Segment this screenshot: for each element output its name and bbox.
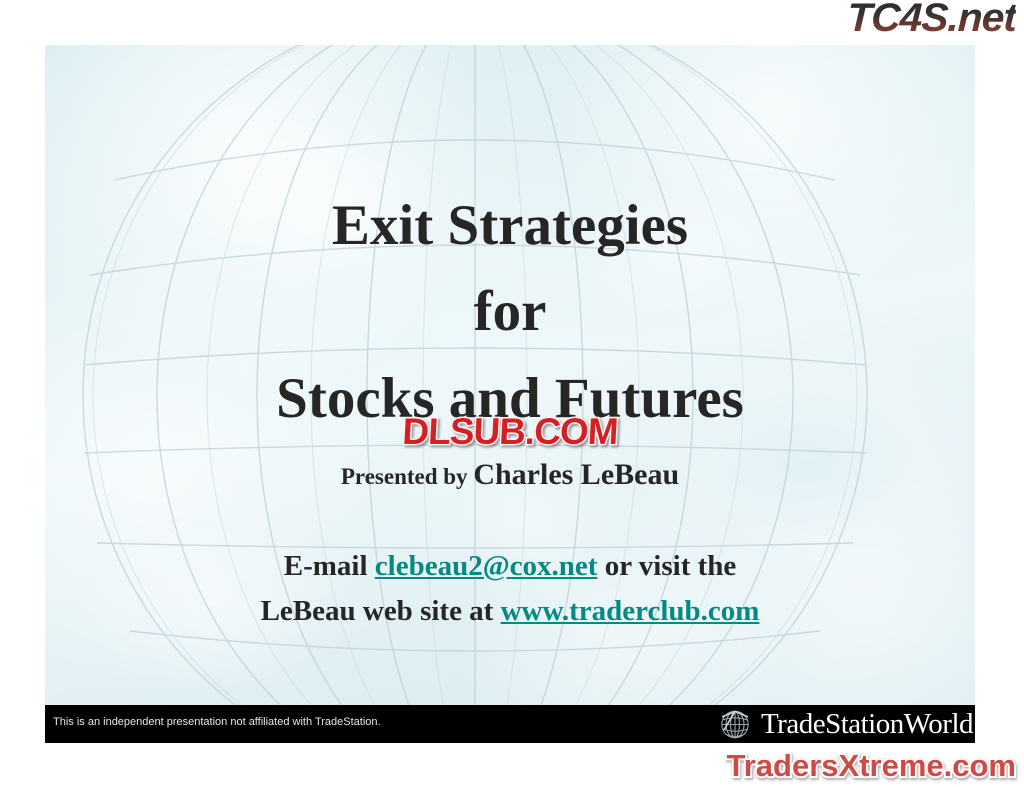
tradestationworld-logo: TradeStationWorld: [715, 707, 973, 741]
presenter-name: Charles LeBeau: [473, 458, 679, 491]
dlsub-watermark-text: DLSUB.COM: [401, 411, 618, 452]
slide-footer-bar: This is an independent presentation not …: [45, 705, 975, 743]
tradersxtreme-watermark: TradersXtreme.com: [727, 748, 1016, 784]
website-link[interactable]: www.traderclub.com: [501, 595, 760, 627]
email-link[interactable]: clebeau2@cox.net: [375, 550, 598, 582]
contact-line-website: LeBeau web site at www.traderclub.com: [45, 595, 975, 628]
presentation-slide: Exit Strategies for Stocks and Futures P…: [45, 45, 975, 743]
presented-by-label: Presented by: [341, 464, 473, 489]
email-prefix-label: E-mail: [284, 550, 375, 582]
website-prefix-label: LeBeau web site at: [261, 595, 501, 627]
contact-line-email: E-mail clebeau2@cox.net or visit the: [45, 550, 975, 583]
email-suffix-label: or visit the: [597, 550, 736, 582]
tradestationworld-brand: TradeStationWorld: [761, 708, 973, 740]
disclaimer-text: This is an independent presentation not …: [53, 716, 381, 728]
slide-title-line-2: for: [45, 283, 975, 340]
dlsub-watermark: DLSUB.COM: [401, 411, 618, 453]
tc4s-site-watermark: TC4S.net: [846, 0, 1016, 40]
presenter-line: Presented by Charles LeBeau: [45, 458, 975, 492]
slide-title-line-1: Exit Strategies: [45, 197, 975, 254]
globe-icon: [715, 708, 759, 740]
tradestationworld-text: TradeStationWorld: [761, 710, 973, 739]
tradersxtreme-watermark-text: TradersXtreme.com: [727, 748, 1016, 783]
